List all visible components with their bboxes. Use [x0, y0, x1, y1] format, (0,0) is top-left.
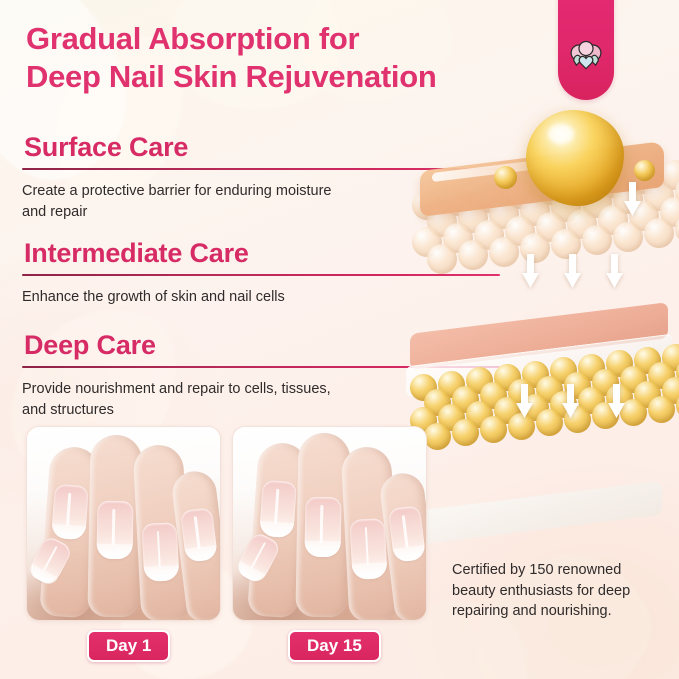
cell-bubble	[536, 212, 566, 242]
section-divider	[22, 274, 500, 276]
cell-bubble	[606, 350, 633, 377]
cell-bubble	[424, 423, 451, 450]
hand-photo	[27, 427, 220, 620]
cell-bubble	[582, 188, 612, 218]
headline-line-1: Gradual Absorption for	[26, 21, 359, 56]
section-divider	[22, 168, 500, 170]
section-body: Create a protective barrier for enduring…	[22, 181, 352, 223]
cell-bubble	[613, 222, 643, 252]
cell-bubble	[505, 216, 535, 246]
section-divider	[22, 366, 500, 368]
cell-bubble	[606, 384, 633, 411]
cell-bubble	[676, 359, 679, 386]
product-infographic: Gradual Absorption for Deep Nail Skin Re…	[0, 0, 679, 679]
day-label-badge: Day 15	[288, 630, 381, 662]
cell-bubble	[564, 372, 591, 399]
cell-bubble	[536, 175, 566, 205]
cell-bubble	[567, 171, 597, 201]
cell-bubble	[522, 361, 549, 388]
section-body: Provide nourishment and repair to cells,…	[22, 379, 352, 421]
comparison-photo-day15	[232, 426, 427, 621]
cell-bubble	[620, 366, 647, 393]
cell-bubble	[578, 387, 605, 414]
cell-bubble	[508, 379, 535, 406]
cell-bubble	[564, 406, 591, 433]
cell-bubble	[676, 392, 679, 419]
cell-bubble	[550, 357, 577, 384]
cell-bubble	[578, 354, 605, 381]
arrow-down-icon	[516, 384, 533, 418]
cell-bubble	[662, 344, 679, 371]
cell-bubble	[452, 419, 479, 446]
section-title: Intermediate Care	[24, 238, 500, 270]
cell-bubble	[598, 205, 628, 235]
cell-bubble	[567, 209, 597, 239]
cell-bubble	[536, 376, 563, 403]
cell-bubble	[520, 196, 550, 226]
cell-bubble	[582, 225, 612, 255]
cell-bubble	[662, 377, 679, 404]
arrow-down-icon	[606, 254, 623, 288]
section-intermediate-care: Intermediate Care Enhance the growth of …	[22, 238, 500, 308]
arrow-down-icon	[564, 254, 581, 288]
cell-bubble	[620, 399, 647, 426]
cell-bubble	[629, 201, 659, 231]
cell-bubble	[536, 409, 563, 436]
section-deep-care: Deep Care Provide nourishment and repair…	[22, 330, 500, 421]
cell-bubble	[598, 168, 628, 198]
cell-bubble	[522, 394, 549, 421]
section-surface-care: Surface Care Create a protective barrier…	[22, 132, 500, 223]
cell-bubble	[629, 164, 659, 194]
section-title: Surface Care	[24, 132, 500, 164]
arrow-down-icon	[624, 182, 641, 216]
mini-oil-droplet-icon	[634, 160, 655, 181]
cell-bubble	[505, 179, 535, 209]
cell-bubble	[508, 413, 535, 440]
cell-bubble	[675, 214, 679, 244]
cell-bubble	[550, 391, 577, 418]
brand-badge	[558, 0, 614, 100]
golden-oil-droplet-icon	[526, 110, 624, 206]
base-layer	[412, 481, 662, 546]
cell-bubble	[660, 160, 679, 190]
cell-bubble	[675, 177, 679, 207]
day-label-badge: Day 1	[87, 630, 170, 662]
section-title: Deep Care	[24, 330, 500, 362]
arrow-down-icon	[562, 384, 579, 418]
page-title: Gradual Absorption for Deep Nail Skin Re…	[26, 20, 546, 96]
oil-droplet-highlight	[548, 124, 574, 144]
cell-bubble	[644, 181, 674, 211]
flower-petal-logo-icon	[565, 38, 607, 80]
section-body: Enhance the growth of skin and nail cell…	[22, 287, 352, 308]
cell-bubble	[592, 369, 619, 396]
arrow-down-icon	[522, 254, 539, 288]
cell-bubble	[592, 402, 619, 429]
cell-bubble	[648, 396, 675, 423]
cell-bubble	[644, 218, 674, 248]
cell-bubble	[660, 197, 679, 227]
cell-bubble	[520, 233, 550, 263]
certification-note: Certified by 150 renowned beauty enthusi…	[452, 560, 664, 622]
headline-line-2: Deep Nail Skin Rejuvenation	[26, 58, 546, 96]
cell-bubble	[634, 347, 661, 374]
cell-bubble	[613, 184, 643, 214]
cell-bubble	[634, 381, 661, 408]
cell-bubble	[648, 362, 675, 389]
hand-photo	[233, 427, 426, 620]
comparison-photo-day1	[26, 426, 221, 621]
cell-bubble	[551, 229, 581, 259]
arrow-down-icon	[608, 384, 625, 418]
cell-bubble	[551, 192, 581, 222]
